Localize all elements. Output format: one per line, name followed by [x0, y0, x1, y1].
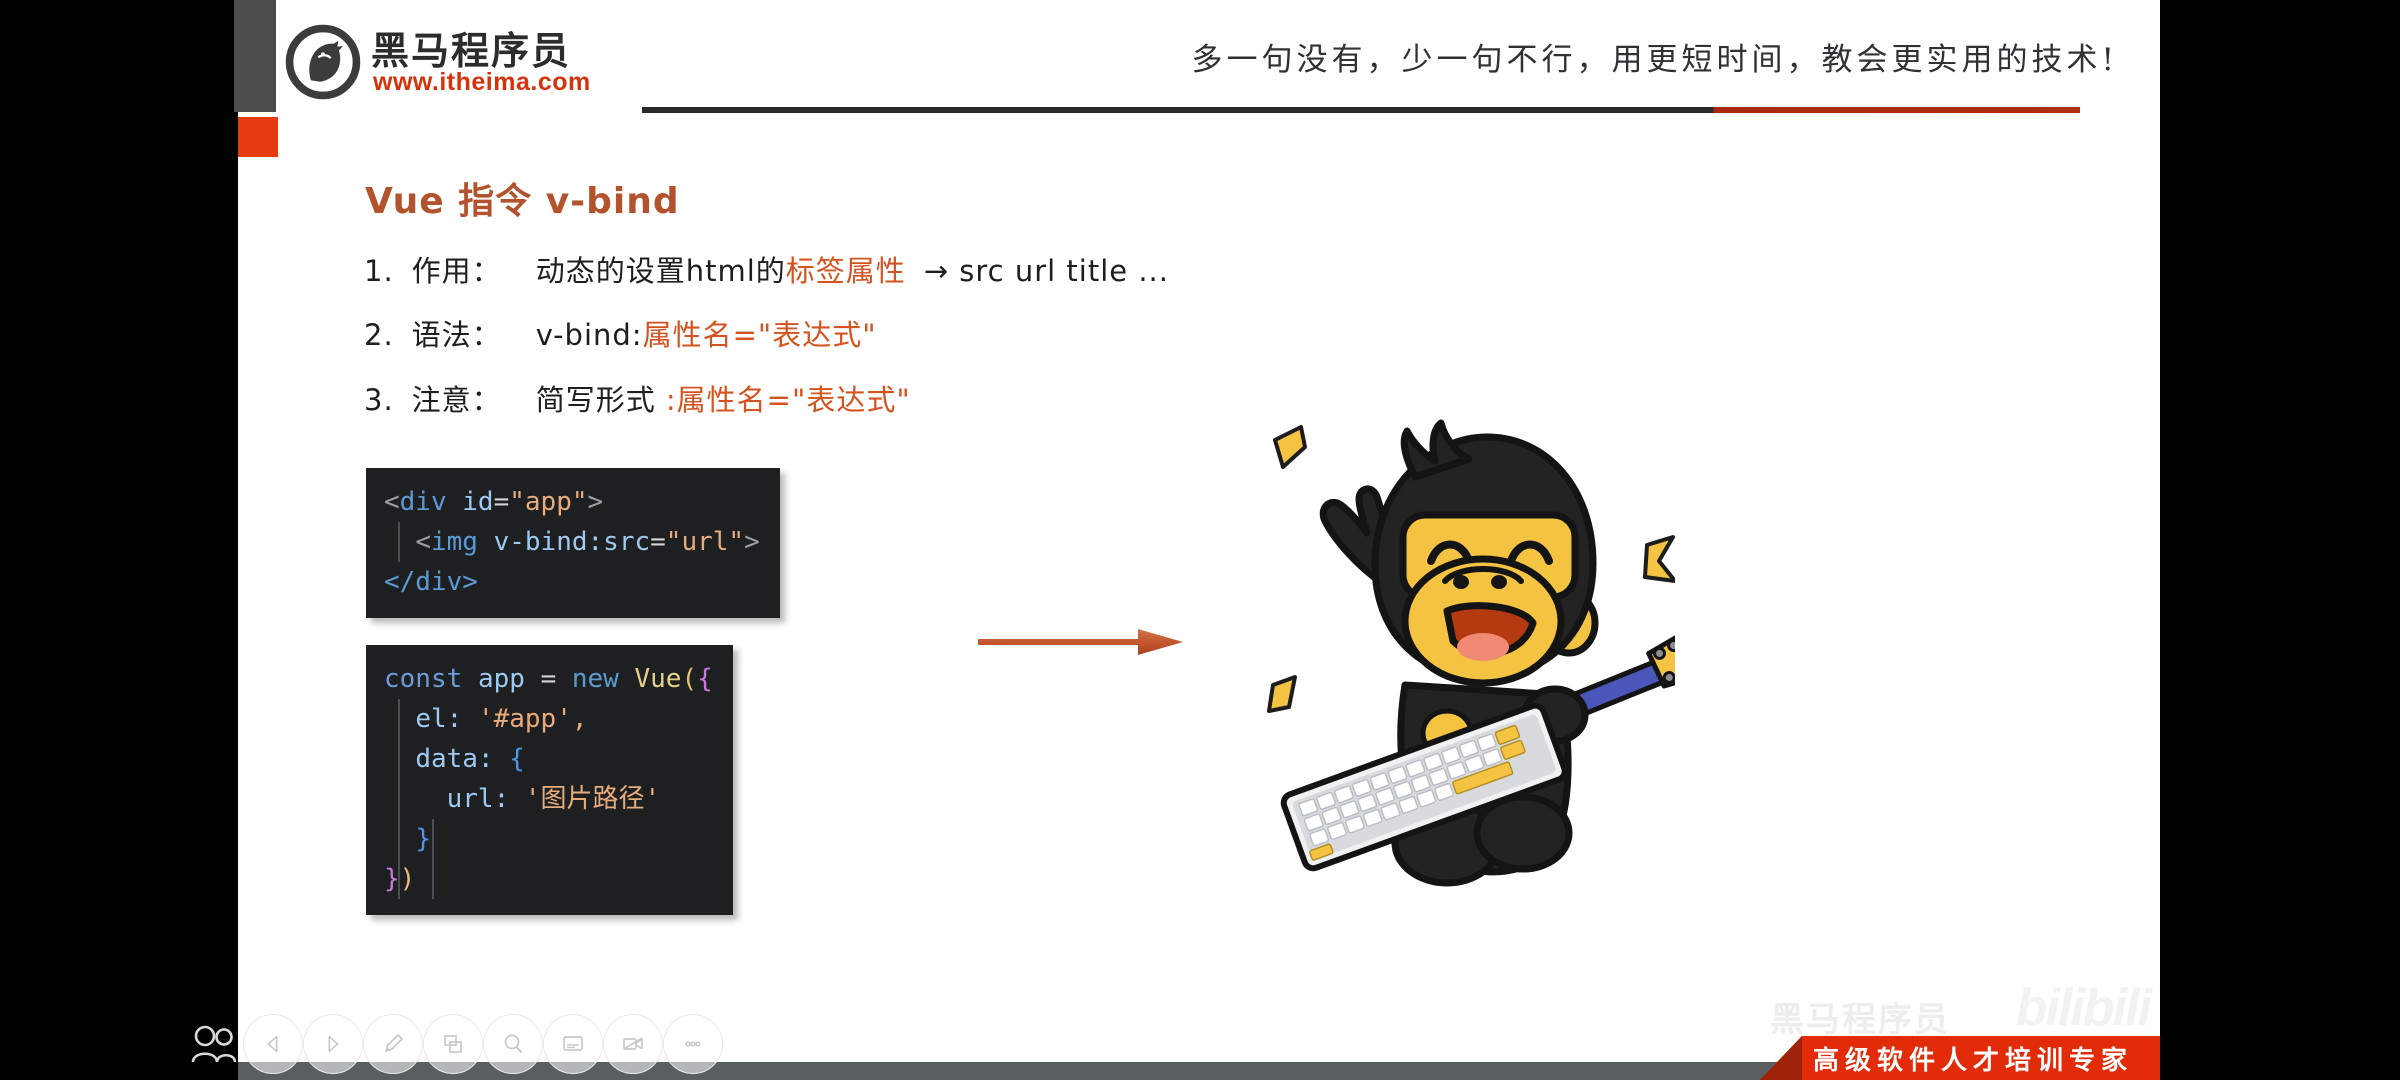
accent-bar-red — [238, 117, 278, 157]
cb2-brace-close-2: } — [415, 824, 431, 854]
header-divider — [642, 107, 2080, 113]
cb1-value-app: "app" — [509, 487, 587, 517]
cb2-eq: = — [541, 664, 557, 694]
code-block-html: <div id="app"> <img v-bind:src="url"> </… — [366, 468, 780, 618]
logo-company-name: 黑马程序员 — [371, 20, 571, 75]
itheima-monkey-mascot-icon — [1255, 415, 1675, 895]
bullet-3-label: 注意： — [412, 383, 502, 417]
cb2-brace-open-2: { — [509, 744, 525, 774]
cb1-tag-div: div — [400, 487, 447, 517]
cb1-tag-img: img — [431, 527, 478, 557]
cb1-open-bracket-2: < — [415, 527, 431, 557]
participants-icon[interactable] — [188, 1024, 238, 1064]
cb1-close-bracket-1: > — [588, 487, 604, 517]
bullet-1-highlight: 标签属性 — [786, 254, 906, 288]
cb1-open-bracket: < — [384, 487, 400, 517]
bullet-1-text-before: 动态的设置html的 — [536, 254, 786, 288]
cb2-val-el: '#app', — [478, 704, 588, 734]
bullet-item-2: 2.语法：v-bind:属性名="表达式" — [364, 312, 877, 354]
footer-banner: 高级软件人才培训专家 — [1760, 1036, 2160, 1080]
page-title: Vue 指令 v-bind — [365, 172, 680, 224]
cb1-eq-2: = — [650, 527, 666, 557]
bullet-1-text-after: → src url title ... — [924, 254, 1169, 288]
watermark-company: 黑马程序员 — [1770, 992, 1950, 1041]
watermark-bilibili: bilibili — [2016, 978, 2150, 1038]
cb2-val-url: '图片路径' — [525, 784, 660, 814]
accent-bar-gray — [234, 0, 276, 112]
banner-text: 高级软件人才培训专家 — [1760, 1036, 2160, 1080]
bullet-2-label: 语法： — [412, 318, 502, 352]
bullet-1-index: 1. — [364, 254, 394, 288]
cb2-key-el: el: — [415, 704, 462, 734]
bullet-2-index: 2. — [364, 318, 394, 352]
bullet-3-highlight: :属性名="表达式" — [666, 383, 911, 417]
screen-root: 黑马程序员 www.itheima.com 多一句没有，少一句不行，用更短时间，… — [0, 0, 2400, 1080]
right-arrow-icon — [978, 628, 1183, 656]
cb2-kw-const: const — [384, 664, 462, 694]
cb2-open-paren: ( — [681, 664, 697, 694]
cb2-class-vue: Vue — [635, 664, 682, 694]
cb1-value-url: "url" — [666, 527, 744, 557]
cb2-open-brace: { — [697, 664, 713, 694]
bilibili-watermark: 黑马程序员 bilibili — [1770, 978, 2150, 1040]
cb2-key-url: url: — [447, 784, 510, 814]
bullet-1-label: 作用： — [412, 254, 502, 288]
bullet-2-text-before: v-bind: — [536, 318, 643, 352]
header-tagline: 多一句没有，少一句不行，用更短时间，教会更实用的技术! — [618, 34, 2118, 79]
cb1-closing-div: </div> — [384, 567, 478, 597]
cb2-var-app: app — [478, 664, 525, 694]
horse-head-logo-icon — [285, 24, 361, 100]
cb1-attr-id: id — [462, 487, 493, 517]
code-block-js: const app = new Vue({ el: '#app', data: … — [366, 645, 733, 915]
cb1-attr-vbind-src: v-bind:src — [494, 527, 651, 557]
cb1-eq-1: = — [494, 487, 510, 517]
bullet-3-text-before: 简写形式 — [536, 383, 666, 417]
bullet-2-highlight: 属性名="表达式" — [643, 318, 877, 352]
brand-logo: 黑马程序员 www.itheima.com — [285, 18, 615, 106]
bullet-item-3: 3.注意：简写形式 :属性名="表达式" — [364, 377, 911, 419]
cb2-close-paren: ) — [400, 864, 416, 894]
cb2-kw-new: new — [572, 664, 619, 694]
bullet-item-1: 1.作用：动态的设置html的标签属性→ src url title ... — [364, 248, 1169, 290]
cb2-key-data: data: — [415, 744, 493, 774]
slide-canvas: 黑马程序员 www.itheima.com 多一句没有，少一句不行，用更短时间，… — [238, 0, 2160, 1080]
logo-website-url: www.itheima.com — [373, 68, 591, 97]
bullet-3-index: 3. — [364, 383, 394, 417]
cb1-close-bracket-2: > — [744, 527, 760, 557]
